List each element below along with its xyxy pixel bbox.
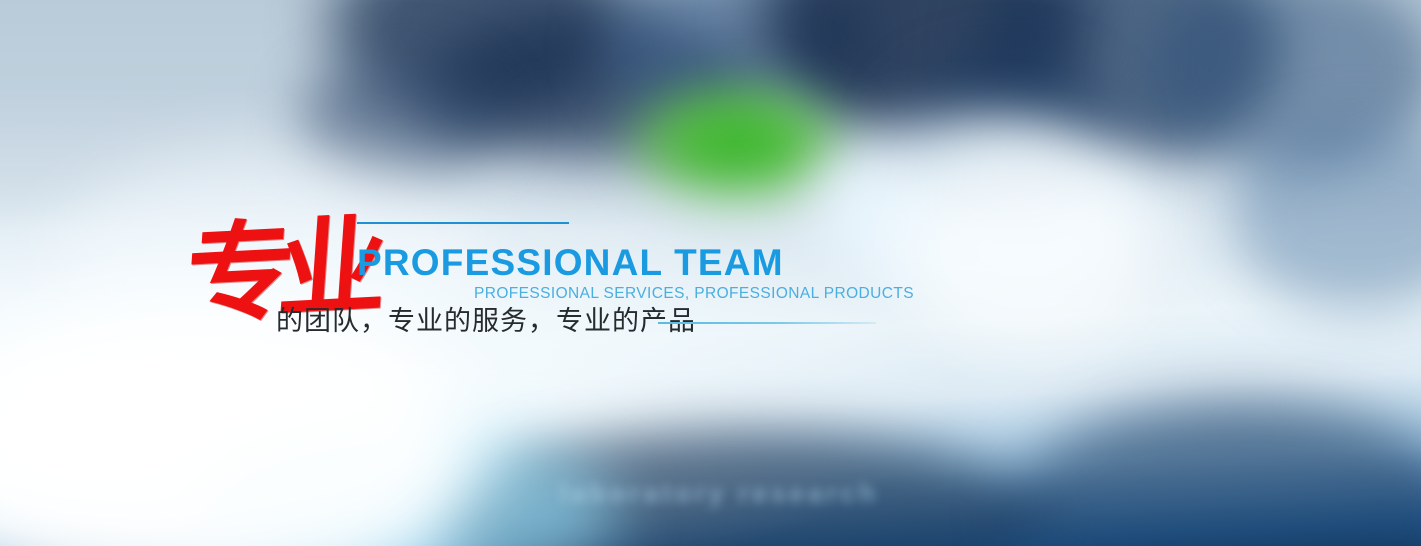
rule-above-headline [357,222,569,224]
banner-subheadline: PROFESSIONAL SERVICES, PROFESSIONAL PROD… [474,285,914,303]
rule-below-tagline [658,322,876,324]
banner-headline: PROFESSIONAL TEAM [357,243,784,283]
professional-team-banner: laboratory research [0,0,1421,546]
banner-tagline-chinese: 的团队，专业的服务，专业的产品 [276,305,696,339]
banner-text-lockup: 专业 PROFESSIONAL TEAM PROFESSIONAL SERVIC… [0,0,1421,546]
